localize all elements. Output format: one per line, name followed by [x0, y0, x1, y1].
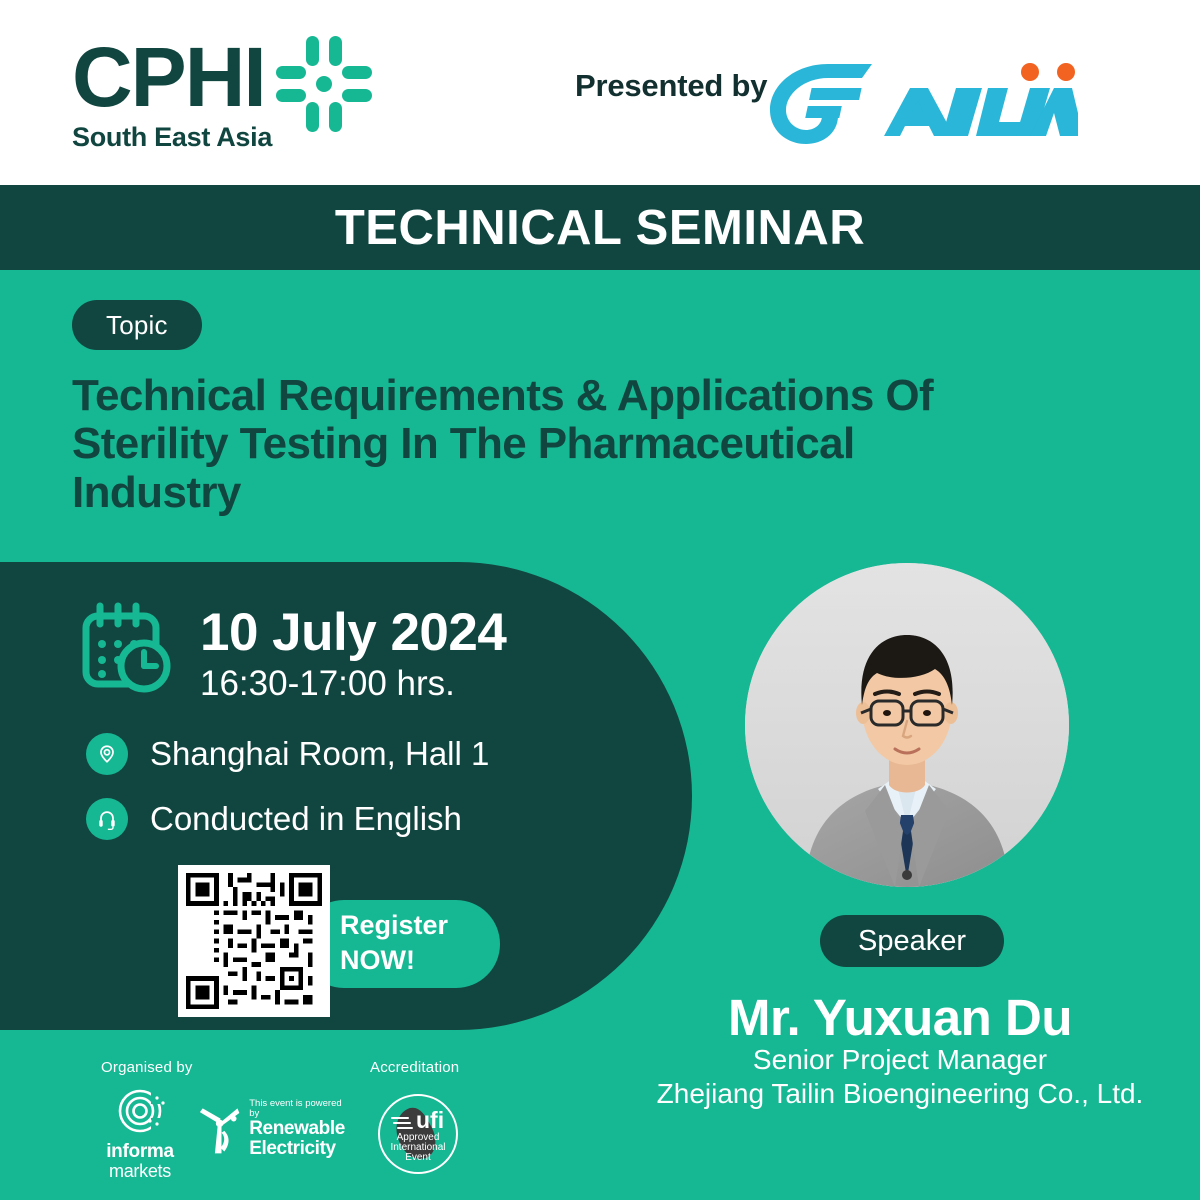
calendar-clock-icon [78, 600, 174, 696]
topic-pill-label: Topic [106, 310, 168, 341]
speaker-name: Mr. Yuxuan Du [600, 988, 1200, 1047]
ufi-accreditation-badge: ufi Approved International Event [376, 1092, 460, 1176]
headset-icon [86, 798, 128, 840]
event-time: 16:30-17:00 hrs. [200, 664, 455, 704]
renewable-wordmark: This event is powered by Renewable Elect… [249, 1099, 348, 1158]
tailin-logo [758, 58, 1078, 146]
organised-by-label: Organised by [101, 1059, 193, 1076]
speaker-portrait-photo [745, 563, 1069, 887]
renewable-line-1: Renewable [249, 1119, 348, 1139]
language-text: Conducted in English [150, 800, 462, 838]
topic-pill: Topic [72, 300, 202, 350]
ufi-line-3: Event [405, 1152, 431, 1163]
renewable-top-line: This event is powered by [249, 1099, 348, 1119]
speaker-pill-label: Speaker [858, 925, 966, 958]
informa-line-2: markets [95, 1162, 185, 1181]
language-row: Conducted in English [86, 798, 462, 840]
speaker-pill: Speaker [820, 915, 1004, 967]
qr-code-icon[interactable] [178, 865, 330, 1017]
register-button-label[interactable]: Register NOW! [340, 908, 500, 977]
banner-title: TECHNICAL SEMINAR [335, 200, 865, 256]
accreditation-label: Accreditation [370, 1059, 459, 1076]
informa-swirl-icon [95, 1088, 185, 1134]
venue-row: Shanghai Room, Hall 1 [86, 733, 489, 775]
location-pin-icon [86, 733, 128, 775]
register-line-2: NOW! [340, 943, 500, 978]
wind-turbine-icon [198, 1097, 241, 1161]
informa-markets-logo: informa markets [95, 1088, 185, 1174]
event-date: 10 July 2024 [200, 602, 506, 663]
ufi-brand-text: ufi [416, 1107, 444, 1133]
top-logo-bar: CPHI South East Asia Presented by [0, 0, 1200, 185]
renewable-line-2: Electricity [249, 1139, 348, 1159]
cphi-dots-icon [272, 32, 376, 136]
seminar-banner: TECHNICAL SEMINAR [0, 185, 1200, 270]
presented-by-label: Presented by [575, 68, 767, 104]
register-line-1: Register [340, 908, 500, 943]
informa-line-1: informa [95, 1142, 185, 1162]
renewable-electricity-logo: This event is powered by Renewable Elect… [198, 1092, 348, 1166]
venue-text: Shanghai Room, Hall 1 [150, 735, 489, 773]
page-title: Technical Requirements & Applications Of… [72, 372, 1032, 517]
speaker-organisation: Zhejiang Tailin Bioengineering Co., Ltd. [600, 1078, 1200, 1110]
informa-wordmark: informa markets [95, 1142, 185, 1181]
speaker-role: Senior Project Manager [600, 1044, 1200, 1076]
